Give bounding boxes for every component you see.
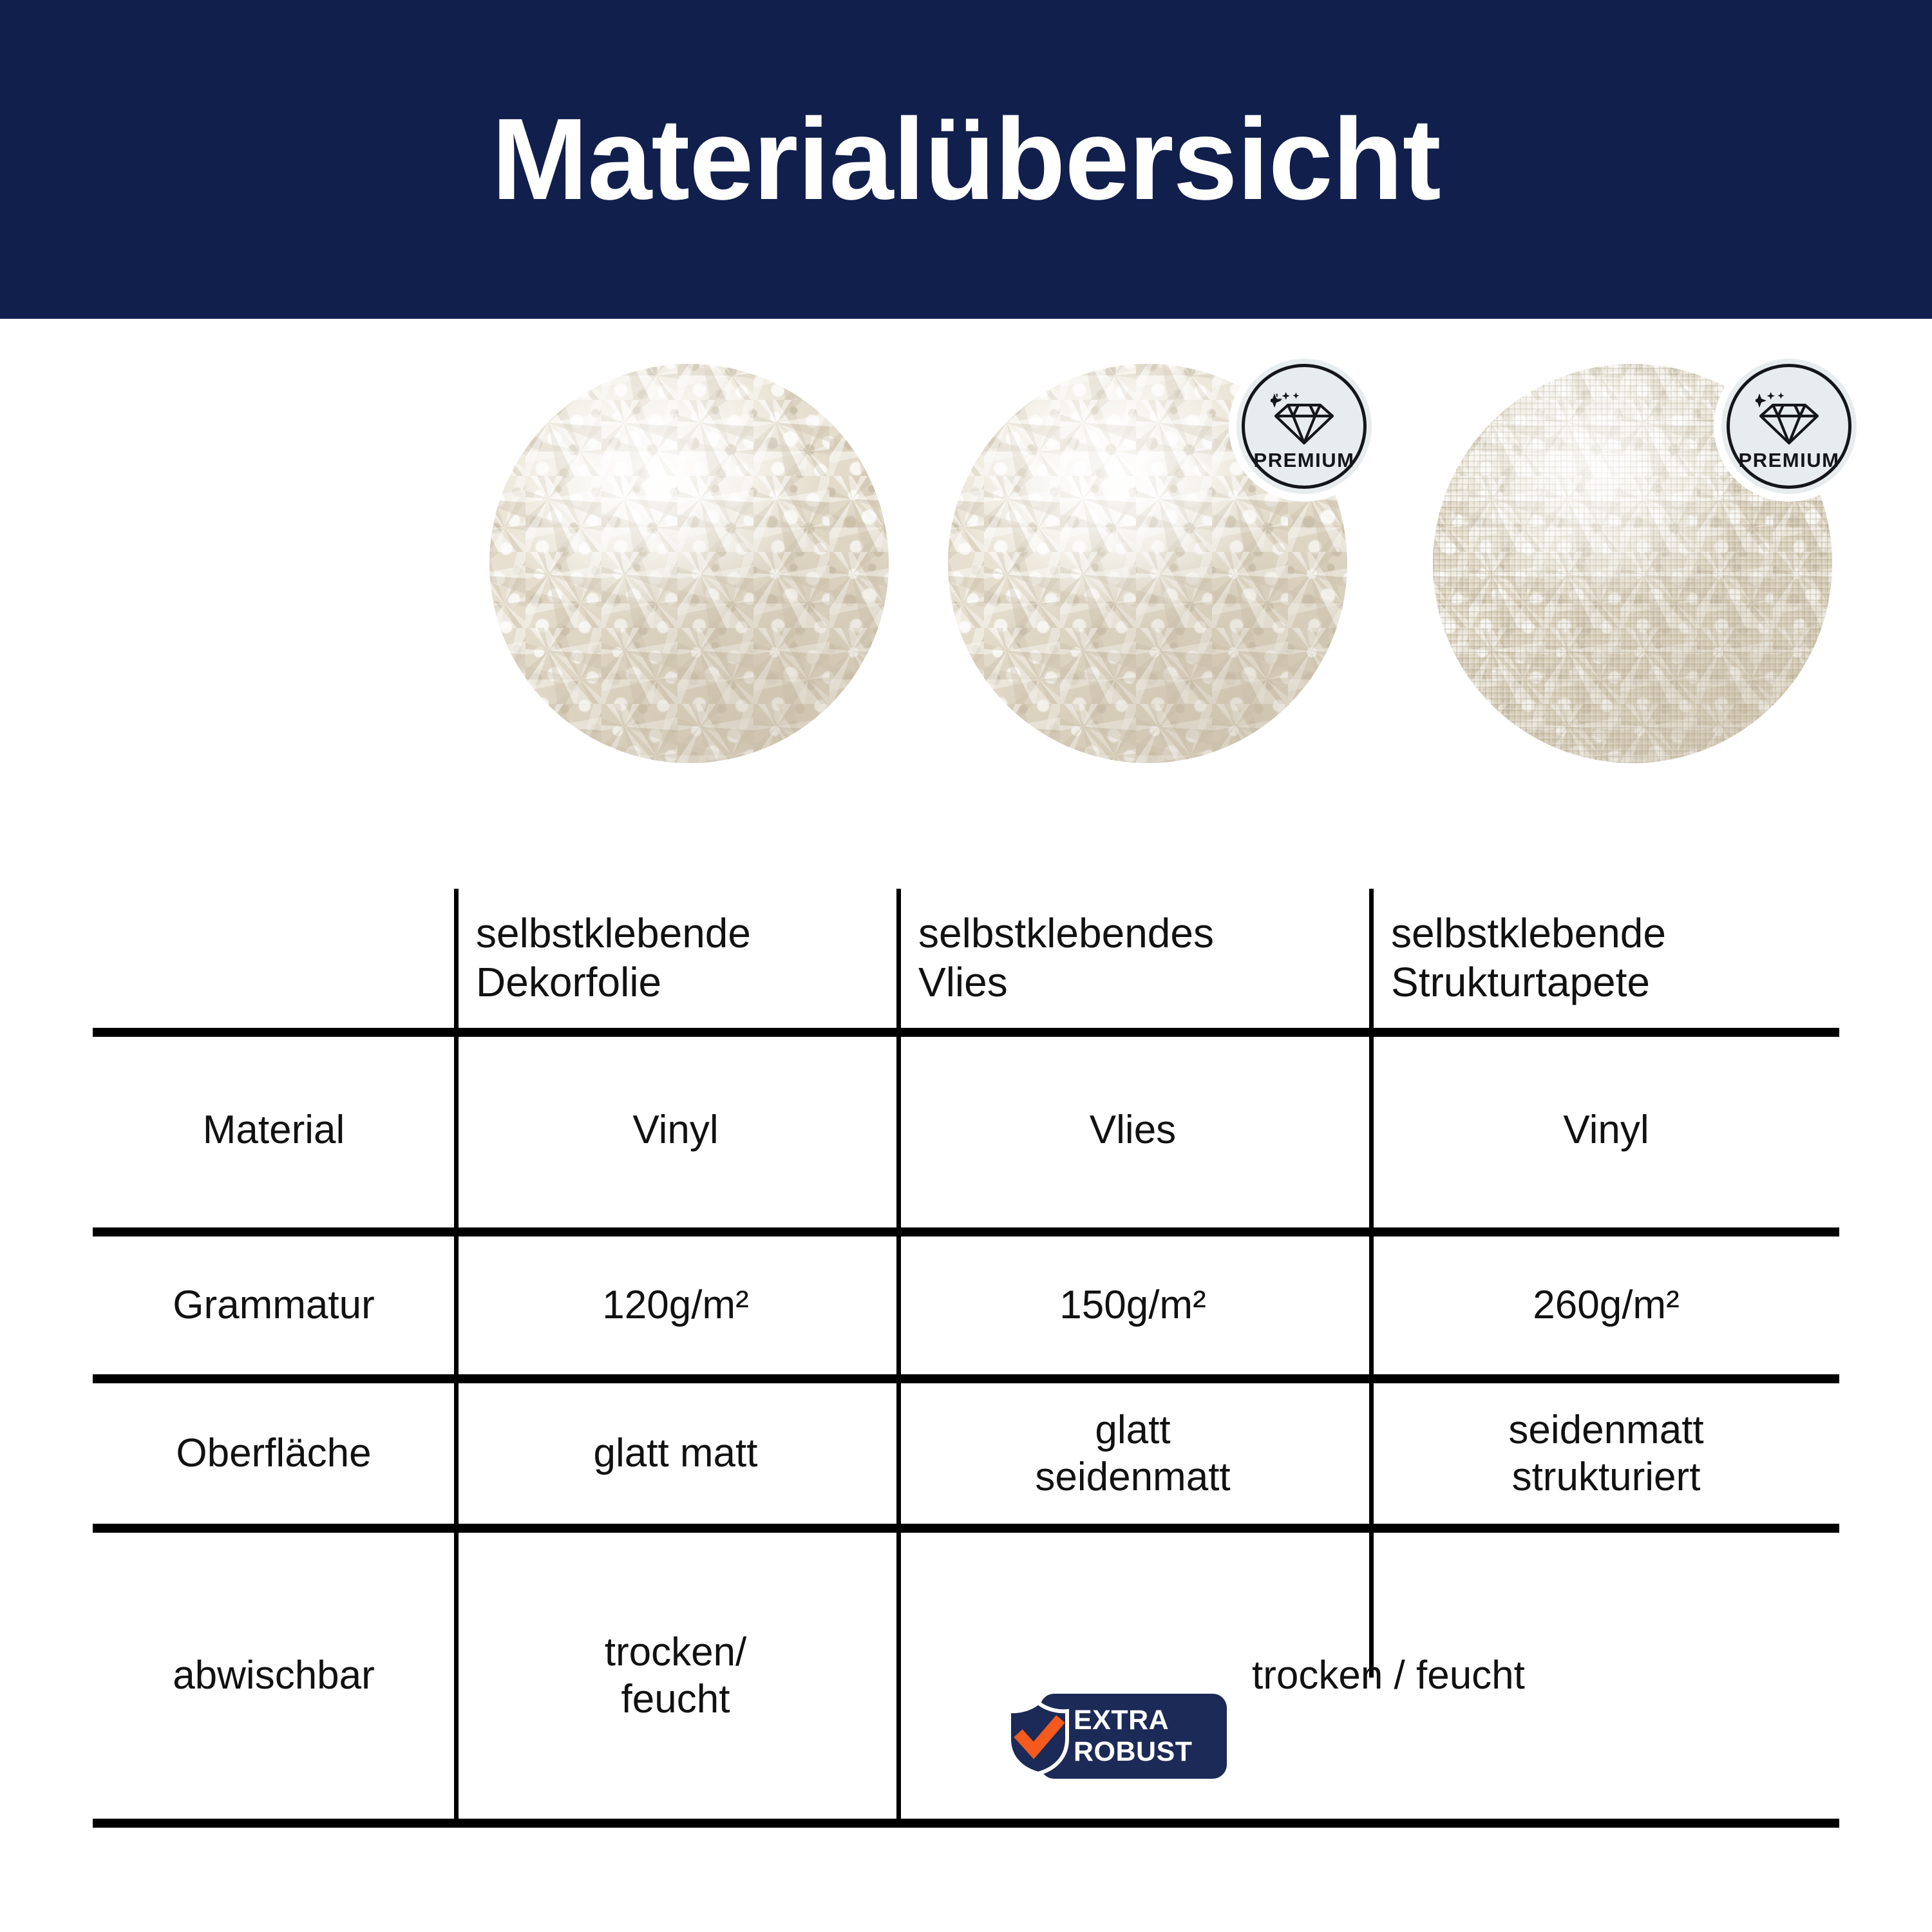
row-divider-3 bbox=[93, 1524, 1839, 1533]
cell-oberflaeche-vlies: glatt seidenmatt bbox=[901, 1383, 1365, 1524]
row-divider-2 bbox=[93, 1374, 1839, 1383]
extra-robust-badge: EXTRA ROBUST bbox=[1003, 1691, 1227, 1781]
cell-abwischbar-merged-text: trocken / feucht bbox=[1252, 1652, 1525, 1699]
cell-oberflaeche-dekorfolie-text: glatt matt bbox=[594, 1430, 758, 1477]
table-header-col2: selbstklebendes Vlies bbox=[909, 889, 1364, 1028]
row-label-material-text: Material bbox=[203, 1106, 345, 1153]
cell-grammatur-strukturtapete-text: 260g/m² bbox=[1533, 1282, 1679, 1329]
table-header-col3-line2: Strukturtapete bbox=[1391, 958, 1650, 1007]
cell-oberflaeche-vlies-line2: seidenmatt bbox=[1035, 1454, 1230, 1501]
cell-grammatur-dekorfolie-text: 120g/m² bbox=[602, 1282, 748, 1329]
row-label-oberflaeche: Oberfläche bbox=[97, 1383, 451, 1524]
cell-grammatur-strukturtapete: 260g/m² bbox=[1374, 1236, 1839, 1374]
cell-material-vlies-text: Vlies bbox=[1090, 1106, 1176, 1153]
cell-abwischbar-dekorfolie-line1: trocken/ bbox=[605, 1629, 747, 1676]
row-divider-bottom bbox=[93, 1819, 1839, 1828]
table-header-col2-line1: selbstklebendes bbox=[918, 909, 1214, 958]
row-label-material: Material bbox=[97, 1037, 451, 1224]
row-divider-1 bbox=[93, 1227, 1839, 1236]
row-divider-header bbox=[93, 1028, 1839, 1037]
cell-grammatur-vlies-text: 150g/m² bbox=[1059, 1282, 1206, 1329]
cell-oberflaeche-dekorfolie: glatt matt bbox=[459, 1383, 893, 1524]
cell-abwischbar-dekorfolie: trocken/ feucht bbox=[459, 1533, 893, 1819]
cell-material-strukturtapete: Vinyl bbox=[1374, 1037, 1839, 1224]
shield-check-icon bbox=[1003, 1700, 1074, 1776]
cell-grammatur-dekorfolie: 120g/m² bbox=[459, 1236, 893, 1374]
extra-robust-text: EXTRA ROBUST bbox=[1074, 1700, 1220, 1772]
cell-grammatur-vlies: 150g/m² bbox=[901, 1236, 1365, 1374]
row-label-grammatur-text: Grammatur bbox=[173, 1282, 374, 1329]
table-header-col3: selbstklebende Strukturtapete bbox=[1382, 889, 1846, 1028]
extra-robust-line1: EXTRA bbox=[1074, 1707, 1169, 1734]
table-header-col1-line2: Dekorfolie bbox=[476, 958, 661, 1007]
cell-oberflaeche-strukturtapete-line1: seidenmatt bbox=[1508, 1406, 1703, 1454]
table-header-col1: selbstklebende Dekorfolie bbox=[467, 889, 892, 1028]
cell-oberflaeche-strukturtapete-line2: strukturiert bbox=[1512, 1454, 1701, 1501]
cell-material-vlies: Vlies bbox=[901, 1037, 1365, 1224]
cell-abwischbar-merged: trocken / feucht bbox=[1243, 1533, 1839, 1819]
cell-material-dekorfolie-text: Vinyl bbox=[632, 1106, 718, 1153]
row-label-oberflaeche-text: Oberfläche bbox=[176, 1430, 371, 1477]
row-label-abwischbar: abwischbar bbox=[97, 1533, 451, 1819]
cell-material-dekorfolie: Vinyl bbox=[459, 1037, 893, 1224]
cell-oberflaeche-vlies-line1: glatt bbox=[1095, 1406, 1170, 1454]
row-label-grammatur: Grammatur bbox=[97, 1236, 451, 1374]
extra-robust-line2: ROBUST bbox=[1074, 1738, 1193, 1766]
row-label-abwischbar-text: abwischbar bbox=[173, 1652, 375, 1699]
cell-material-strukturtapete-text: Vinyl bbox=[1563, 1106, 1649, 1153]
table-header-col2-line2: Vlies bbox=[918, 958, 1008, 1007]
material-comparison-table: selbstklebende Dekorfolie selbstklebende… bbox=[0, 0, 1932, 1932]
table-header-col3-line1: selbstklebende bbox=[1391, 909, 1666, 958]
cell-abwischbar-dekorfolie-line2: feucht bbox=[621, 1676, 730, 1723]
cell-oberflaeche-strukturtapete: seidenmatt strukturiert bbox=[1374, 1383, 1839, 1524]
table-header-col1-line1: selbstklebende bbox=[476, 909, 751, 958]
